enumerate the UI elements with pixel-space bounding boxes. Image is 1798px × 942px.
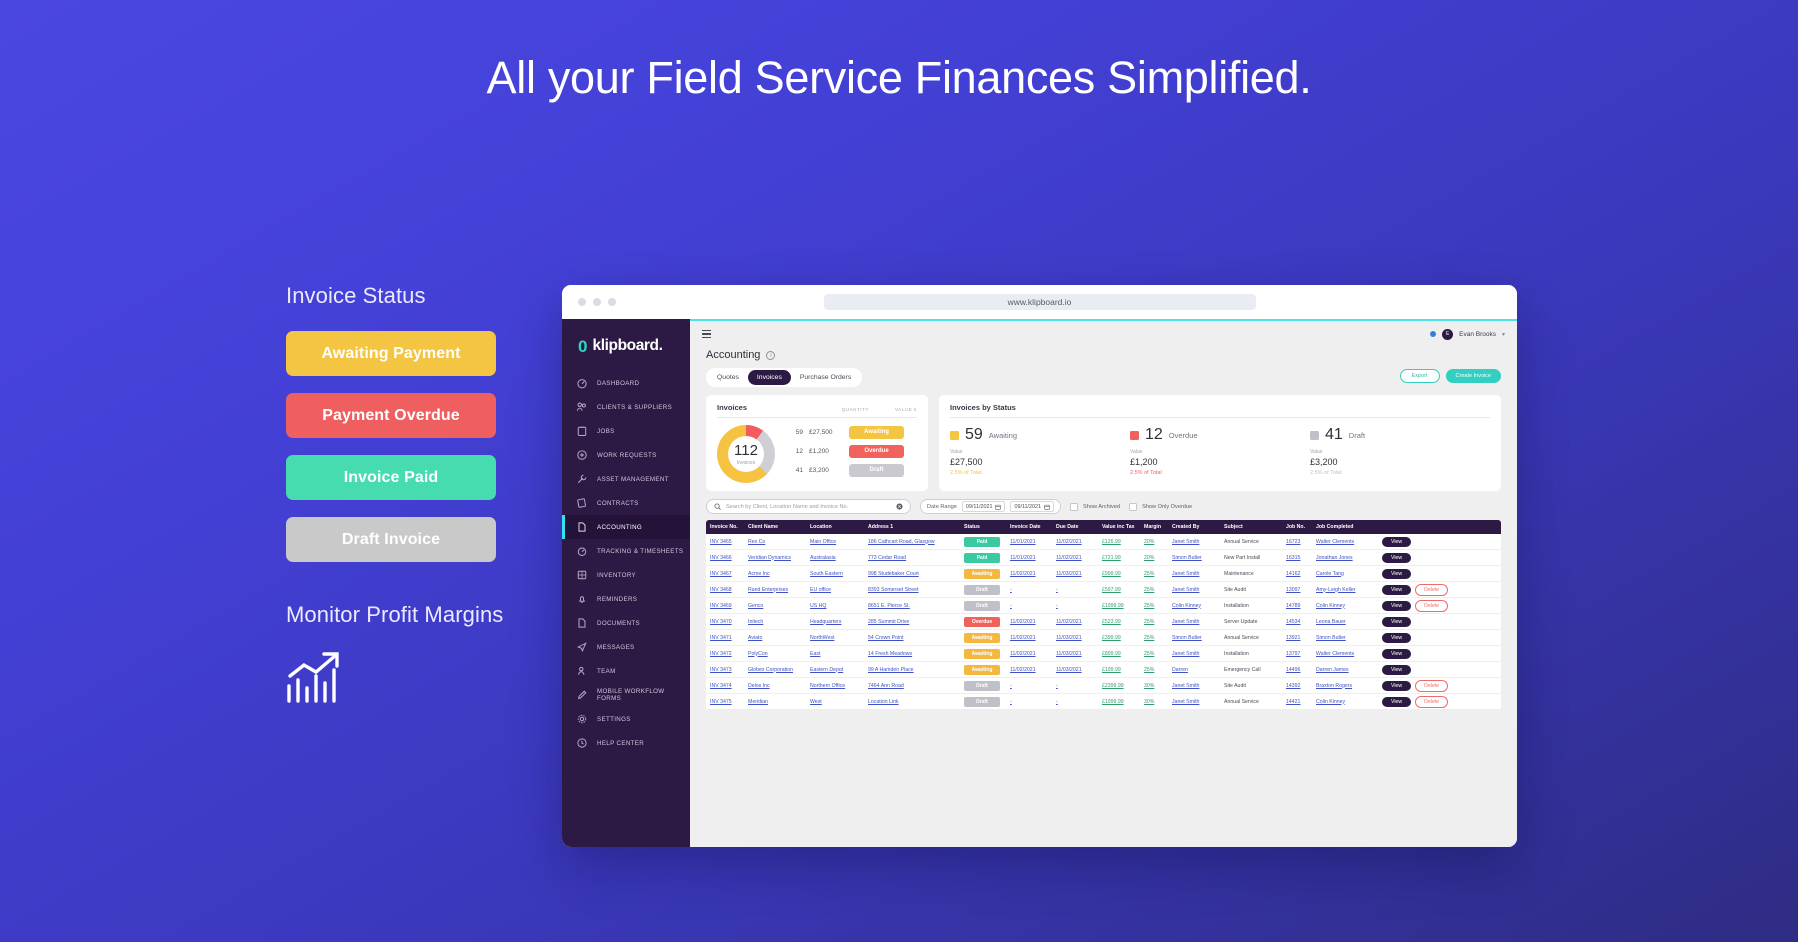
status-badge: Draft (964, 601, 1000, 611)
cell-location[interactable]: Eastern Depot (806, 667, 864, 673)
cell-status: Awaiting (960, 633, 1006, 643)
klipboard-mark-icon: 0 (578, 338, 587, 355)
table-row[interactable]: INV 3472PolyConEast14 Fresh MeadowsAwait… (706, 646, 1501, 662)
sidebar-item-asset-management[interactable]: ASSET MANAGEMENT (562, 467, 690, 491)
cell-location[interactable]: Australasia (806, 555, 864, 561)
cell-address[interactable]: 773 Cedar Road (864, 555, 960, 561)
cell-created-by[interactable]: Colin Kinney (1168, 603, 1220, 609)
sidebar-item-label: MESSAGES (597, 644, 635, 651)
cell-subject: Annual Service (1220, 699, 1282, 705)
gear-icon (576, 713, 588, 725)
invoices-table: Invoice No.Client NameLocationAddress 1S… (706, 520, 1501, 710)
cell-invoice-no[interactable]: INV 3467 (706, 571, 744, 577)
cell-job-no[interactable]: 14789 (1282, 603, 1312, 609)
status-badge: Overdue (964, 617, 1000, 627)
status-name: Overdue (1169, 431, 1198, 440)
summary-cards: Invoices QUANTITY VALUE £ 112 Invoices (690, 387, 1517, 491)
app-logo[interactable]: 0 klipboard. (562, 327, 690, 371)
delete-button[interactable]: Delete (1415, 680, 1448, 692)
cell-invoice-no[interactable]: INV 3471 (706, 635, 744, 641)
view-button[interactable]: View (1382, 601, 1411, 611)
cell-job-completed[interactable]: Colin Kinney (1312, 603, 1378, 609)
cell-client-name[interactable]: Acme Inc (744, 571, 806, 577)
cell-invoice-no[interactable]: INV 3465 (706, 539, 744, 545)
sidebar-item-label: TRACKING & TIMESHEETS (597, 548, 683, 555)
cell-location[interactable]: West (806, 699, 864, 705)
sidebar-item-help-center[interactable]: HELP CENTER (562, 731, 690, 755)
cell-invoice-no[interactable]: INV 3466 (706, 555, 744, 561)
cell-status: Awaiting (960, 665, 1006, 675)
cell-client-name[interactable]: Initech (744, 619, 806, 625)
cell-address[interactable]: 54 Crown Point (864, 635, 960, 641)
stopwatch-icon (576, 545, 588, 557)
cell-created-by[interactable]: Simon Butler (1168, 635, 1220, 641)
cell-job-completed[interactable]: Jonathan Jones (1312, 555, 1378, 561)
column-header[interactable]: Due Date (1052, 524, 1098, 530)
cell-job-completed[interactable]: Walter Clements (1312, 651, 1378, 657)
cell-location[interactable]: South Eastern (806, 571, 864, 577)
sidebar-item-work-requests[interactable]: WORK REQUESTS (562, 443, 690, 467)
view-button[interactable]: View (1382, 665, 1411, 675)
table-row[interactable]: INV 3473Globex CorporationEastern Depot9… (706, 662, 1501, 678)
status-percent: 2.5% of Total (1310, 470, 1490, 476)
cell-created-by[interactable]: Janet Smith (1168, 619, 1220, 625)
show-archived-label: Show Archived (1083, 504, 1120, 510)
cell-job-no[interactable]: 14392 (1282, 683, 1312, 689)
sidebar-item-label: MOBILE WORKFLOW FORMS (597, 688, 690, 702)
cell-due-date: 11/02/2021 (1052, 619, 1098, 625)
cell-created-by[interactable]: Janet Smith (1168, 699, 1220, 705)
search-input[interactable]: Search by Client, Location Name and Invo… (706, 499, 911, 514)
cell-created-by[interactable]: Simon Butler (1168, 555, 1220, 561)
column-header[interactable]: Invoice No. (706, 524, 744, 530)
status-card-title: Invoices by Status (950, 403, 1016, 412)
legend-value: £3,200 (809, 467, 843, 474)
column-header[interactable]: Created By (1168, 524, 1220, 530)
cell-job-completed[interactable]: Darren James (1312, 667, 1378, 673)
cell-margin: 25% (1140, 667, 1168, 673)
maximize-dot-icon[interactable] (608, 298, 616, 306)
cell-invoice-date: 11/02/2021 (1006, 571, 1052, 577)
cell-location[interactable]: Headquarters (806, 619, 864, 625)
cell-invoice-date: 11/01/2021 (1006, 555, 1052, 561)
cell-invoice-no[interactable]: INV 3469 (706, 603, 744, 609)
view-button[interactable]: View (1382, 697, 1411, 707)
cell-location[interactable]: East (806, 651, 864, 657)
sidebar-item-team[interactable]: TEAM (562, 659, 690, 683)
cell-value: £1999.99 (1098, 603, 1140, 609)
date-to-value: 09/11/2021 (1014, 504, 1041, 510)
cell-location[interactable]: Northern Office (806, 683, 864, 689)
cell-value: £126.99 (1098, 539, 1140, 545)
cell-client-name[interactable]: Meridian (744, 699, 806, 705)
cell-due-date: - (1052, 699, 1098, 705)
cell-invoice-date: - (1006, 683, 1052, 689)
trending-up-bar-chart-icon (286, 650, 526, 709)
cell-address[interactable]: 8393 Somerset Street (864, 587, 960, 593)
table-row[interactable]: INV 3471AviatoNorthWest54 Crown PointAwa… (706, 630, 1501, 646)
cell-created-by[interactable]: Janet Smith (1168, 571, 1220, 577)
tab-quotes[interactable]: Quotes (708, 370, 748, 385)
cell-subject: Site Audit (1220, 587, 1282, 593)
view-button[interactable]: View (1382, 537, 1411, 547)
cell-due-date: 11/03/2021 (1052, 667, 1098, 673)
status-name: Awaiting (989, 431, 1017, 440)
cell-client-name[interactable]: Rex Co (744, 539, 806, 545)
sidebar-item-clients-suppliers[interactable]: CLIENTS & SUPPLIERS (562, 395, 690, 419)
date-to-field[interactable]: 09/11/2021 (1010, 501, 1054, 512)
paper-plane-icon (576, 641, 588, 653)
status-color-swatch (1310, 431, 1319, 440)
table-row[interactable]: INV 3474Delos IncNorthern Office7464 Ann… (706, 678, 1501, 694)
donut-legend-row: 12£1,200Overdue (785, 445, 917, 458)
cell-address[interactable]: Location Link (864, 699, 960, 705)
cell-subject: Annual Service (1220, 635, 1282, 641)
cell-margin: 25% (1140, 651, 1168, 657)
app-sidebar: 0 klipboard. DASHBOARDCLIENTS & SUPPLIER… (562, 319, 690, 847)
sidebar-item-label: REMINDERS (597, 596, 637, 603)
status-badge-3[interactable]: Draft Invoice (286, 517, 496, 562)
quantity-column-label: QUANTITY (842, 407, 869, 412)
table-row[interactable]: INV 3468Rand EnterprisesEU office8393 So… (706, 582, 1501, 598)
table-row[interactable]: INV 3470InitechHeadquarters285 Summit Dr… (706, 614, 1501, 630)
column-header[interactable]: Status (960, 524, 1006, 530)
cell-subject: Annual Service (1220, 539, 1282, 545)
cell-due-date: 11/02/2021 (1052, 555, 1098, 561)
sidebar-item-accounting[interactable]: ACCOUNTING (562, 515, 690, 539)
view-button[interactable]: View (1382, 617, 1411, 627)
cell-job-completed[interactable]: Walter Clements (1312, 539, 1378, 545)
status-value: £3,200 (1310, 457, 1490, 467)
cell-invoice-no[interactable]: INV 3474 (706, 683, 744, 689)
cell-job-no[interactable]: 13797 (1282, 651, 1312, 657)
tab-purchase-orders[interactable]: Purchase Orders (791, 370, 860, 385)
cell-due-date: - (1052, 587, 1098, 593)
table-row[interactable]: INV 3465Rex CoMain Office186 Cathcart Ro… (706, 534, 1501, 550)
delete-button[interactable]: Delete (1415, 584, 1448, 596)
cell-address[interactable]: 8651 E. Pierce St. (864, 603, 960, 609)
profit-margins-heading: Monitor Profit Margins (286, 602, 526, 628)
column-header[interactable]: Location (806, 524, 864, 530)
cell-client-name[interactable]: Genco (744, 603, 806, 609)
sidebar-item-documents[interactable]: DOCUMENTS (562, 611, 690, 635)
cell-due-date: - (1052, 603, 1098, 609)
invoices-summary-card: Invoices QUANTITY VALUE £ 112 Invoices (706, 395, 928, 491)
donut-legend-row: 41£3,200Draft (785, 464, 917, 477)
sidebar-item-tracking-timesheets[interactable]: TRACKING & TIMESHEETS (562, 539, 690, 563)
chevron-down-icon[interactable]: ▾ (1502, 331, 1505, 338)
status-count: 41 (1325, 427, 1343, 443)
cell-address[interactable]: 186 Cathcart Road, Glasgow (864, 539, 960, 545)
calendar-icon (1044, 504, 1050, 510)
gauge-icon (576, 377, 588, 389)
cell-margin: 25% (1140, 619, 1168, 625)
cell-job-no[interactable]: 16723 (1282, 539, 1312, 545)
status-badge-2[interactable]: Invoice Paid (286, 455, 496, 500)
cell-subject: Installation (1220, 651, 1282, 657)
sidebar-item-label: CONTRACTS (597, 500, 639, 507)
clipboard-icon (576, 425, 588, 437)
table-row[interactable]: INV 3467Acme IncSouth Eastern998 Studeba… (706, 566, 1501, 582)
sidebar-item-label: HELP CENTER (597, 740, 644, 747)
sidebar-item-label: WORK REQUESTS (597, 452, 657, 459)
online-status-icon (1430, 331, 1436, 337)
cell-address[interactable]: 998 Studebaker Court (864, 571, 960, 577)
cell-actions: ViewDelete (1378, 600, 1501, 612)
status-value: £1,200 (1130, 457, 1310, 467)
invoices-card-header: Invoices QUANTITY VALUE £ (717, 403, 917, 418)
cell-address[interactable]: 285 Summit Drive (864, 619, 960, 625)
cell-client-name[interactable]: Rand Enterprises (744, 587, 806, 593)
contract-icon (576, 497, 588, 509)
url-bar[interactable]: www.klipboard.io (824, 294, 1256, 310)
wrench-icon (576, 473, 588, 485)
cell-invoice-date: - (1006, 587, 1052, 593)
legend-status-pill[interactable]: Draft (849, 464, 904, 477)
minimize-dot-icon[interactable] (593, 298, 601, 306)
table-row[interactable]: INV 3466Veridian DynamicsAustralasia773 … (706, 550, 1501, 566)
cell-job-no[interactable]: 16315 (1282, 555, 1312, 561)
cell-invoice-no[interactable]: INV 3472 (706, 651, 744, 657)
status-count: 59 (965, 427, 983, 443)
column-header[interactable]: Job Completed (1312, 524, 1378, 530)
sidebar-item-jobs[interactable]: JOBS (562, 419, 690, 443)
boxes-icon (576, 569, 588, 581)
file-icon (576, 617, 588, 629)
hamburger-icon[interactable] (702, 330, 711, 338)
cell-client-name[interactable]: Delos Inc (744, 683, 806, 689)
date-range-filter[interactable]: Date Range 09/11/2021 09/11/2021 (920, 499, 1061, 514)
cell-margin: 20% (1140, 555, 1168, 561)
cell-invoice-no[interactable]: INV 3468 (706, 587, 744, 593)
close-dot-icon[interactable] (578, 298, 586, 306)
show-archived-checkbox[interactable]: Show Archived (1070, 503, 1120, 511)
legend-value: £27,500 (809, 429, 843, 436)
sidebar-item-messages[interactable]: MESSAGES (562, 635, 690, 659)
donut-row: 112 Invoices 59£27,500Awaiting12£1,200Ov… (717, 418, 917, 483)
checkbox-box[interactable] (1070, 503, 1078, 511)
view-button[interactable]: View (1382, 585, 1411, 595)
show-only-overdue-checkbox[interactable]: Show Only Overdue (1129, 503, 1192, 511)
column-header[interactable]: Subject (1220, 524, 1282, 530)
cell-client-name[interactable]: PolyCon (744, 651, 806, 657)
status-badge-0[interactable]: Awaiting Payment (286, 331, 496, 376)
cell-invoice-date: 11/02/2021 (1006, 651, 1052, 657)
cell-margin: 25% (1140, 571, 1168, 577)
cell-value: £999.99 (1098, 571, 1140, 577)
cell-job-completed[interactable]: Carole Tang (1312, 571, 1378, 577)
page-title: All your Field Service Finances Simplifi… (0, 52, 1798, 104)
info-icon[interactable]: i (766, 351, 775, 360)
accounting-title: Accounting (706, 349, 760, 361)
legend-quantity: 12 (785, 448, 803, 455)
cell-subject: Emergency Call (1220, 667, 1282, 673)
invoices-donut-chart: 112 Invoices (717, 425, 775, 483)
column-header[interactable]: Client Name (744, 524, 806, 530)
cell-location[interactable]: EU office (806, 587, 864, 593)
view-button[interactable]: View (1382, 569, 1411, 579)
cell-created-by[interactable]: Darren (1168, 667, 1220, 673)
date-from-value: 09/11/2021 (966, 504, 993, 510)
cell-subject: Site Audit (1220, 683, 1282, 689)
user-name: Evan Brooks (1459, 331, 1496, 338)
cell-actions: View (1378, 649, 1501, 659)
table-row[interactable]: INV 3475MeridianWestLocation LinkDraft--… (706, 694, 1501, 710)
status-badge: Paid (964, 537, 1000, 547)
cell-margin: 30% (1140, 699, 1168, 705)
pencil-icon (576, 689, 588, 701)
sidebar-item-label: INVENTORY (597, 572, 636, 579)
cell-value: £721.99 (1098, 555, 1140, 561)
cell-job-no[interactable]: 13097 (1282, 587, 1312, 593)
cell-actions: ViewDelete (1378, 680, 1501, 692)
sidebar-item-dashboard[interactable]: DASHBOARD (562, 371, 690, 395)
cell-value: £399.99 (1098, 635, 1140, 641)
cell-status: Overdue (960, 617, 1006, 627)
tab-invoices[interactable]: Invoices (748, 370, 791, 385)
show-only-overdue-label: Show Only Overdue (1142, 504, 1192, 510)
create-invoice-button[interactable]: Create Invoice (1446, 369, 1501, 383)
document-icon (576, 521, 588, 533)
export-button[interactable]: Export (1400, 369, 1440, 383)
column-header[interactable]: Value inc Tax (1098, 524, 1140, 530)
cell-status: Draft (960, 697, 1006, 707)
cell-status: Draft (960, 681, 1006, 691)
status-percent: 2.5% of Total (950, 470, 1130, 476)
cell-margin: 30% (1140, 683, 1168, 689)
cell-client-name[interactable]: Globex Corporation (744, 667, 806, 673)
cell-value: £899.99 (1098, 651, 1140, 657)
cell-margin: 25% (1140, 603, 1168, 609)
status-item: 59AwaitingValue£27,5002.5% of Total (950, 427, 1130, 476)
date-from-field[interactable]: 09/11/2021 (962, 501, 1006, 512)
header-actions: Export Create Invoice (1400, 369, 1501, 383)
cell-job-no[interactable]: 14534 (1282, 619, 1312, 625)
status-badge: Awaiting (964, 649, 1000, 659)
delete-button[interactable]: Delete (1415, 696, 1448, 708)
cell-status: Awaiting (960, 649, 1006, 659)
cell-actions: View (1378, 553, 1501, 563)
cell-value: £2399.99 (1098, 683, 1140, 689)
date-range-label: Date Range (927, 504, 957, 510)
view-button[interactable]: View (1382, 633, 1411, 643)
cell-client-name[interactable]: Veridian Dynamics (744, 555, 806, 561)
status-item: 12OverdueValue£1,2002.5% of Total (1130, 427, 1310, 476)
column-header[interactable]: Address 1 (864, 524, 960, 530)
search-placeholder: Search by Client, Location Name and Invo… (726, 504, 891, 510)
table-row[interactable]: INV 3469GencoUS HQ8651 E. Pierce St.Draf… (706, 598, 1501, 614)
cell-invoice-no[interactable]: INV 3470 (706, 619, 744, 625)
app-main: E Evan Brooks ▾ Accounting i QuotesInvoi… (690, 319, 1517, 847)
value-column-label: VALUE £ (895, 407, 917, 412)
cell-location[interactable]: Main Office (806, 539, 864, 545)
sidebar-item-contracts[interactable]: CONTRACTS (562, 491, 690, 515)
cell-job-no[interactable]: 14162 (1282, 571, 1312, 577)
sidebar-item-inventory[interactable]: INVENTORY (562, 563, 690, 587)
delete-button[interactable]: Delete (1415, 600, 1448, 612)
status-count: 12 (1145, 427, 1163, 443)
table-body: INV 3465Rex CoMain Office186 Cathcart Ro… (706, 534, 1501, 710)
cell-job-no[interactable]: 14421 (1282, 699, 1312, 705)
cell-created-by[interactable]: Janet Smith (1168, 651, 1220, 657)
status-badge-1[interactable]: Payment Overdue (286, 393, 496, 438)
cell-due-date: 11/03/2021 (1052, 571, 1098, 577)
cell-status: Draft (960, 585, 1006, 595)
cell-margin: 25% (1140, 587, 1168, 593)
cell-location[interactable]: US HQ (806, 603, 864, 609)
cell-created-by[interactable]: Janet Smith (1168, 587, 1220, 593)
cell-value: £199.99 (1098, 667, 1140, 673)
column-header[interactable]: Margin (1140, 524, 1168, 530)
cell-subject: New Part Install (1220, 555, 1282, 561)
sidebar-item-label: DASHBOARD (597, 380, 639, 387)
sidebar-item-label: SETTINGS (597, 716, 631, 723)
cell-actions: View (1378, 633, 1501, 643)
status-badge: Draft (964, 585, 1000, 595)
cell-job-no[interactable]: 14496 (1282, 667, 1312, 673)
user-gear-icon (576, 665, 588, 677)
cell-address[interactable]: 99 A Hamden Place (864, 667, 960, 673)
invoice-status-heading: Invoice Status (286, 283, 526, 309)
status-percent: 2.5% of Total (1130, 470, 1310, 476)
checkbox-box[interactable] (1129, 503, 1137, 511)
clear-icon[interactable] (896, 503, 903, 510)
cell-client-name[interactable]: Aviato (744, 635, 806, 641)
sidebar-item-label: JOBS (597, 428, 615, 435)
cell-invoice-no[interactable]: INV 3473 (706, 667, 744, 673)
view-button[interactable]: View (1382, 649, 1411, 659)
cell-status: Paid (960, 537, 1006, 547)
status-badge: Awaiting (964, 633, 1000, 643)
cell-address[interactable]: 7464 Ann Road (864, 683, 960, 689)
legend-status-pill[interactable]: Awaiting (849, 426, 904, 439)
status-item: 41DraftValue£3,2002.5% of Total (1310, 427, 1490, 476)
cell-invoice-date: 11/02/2021 (1006, 619, 1052, 625)
cell-margin: 20% (1140, 539, 1168, 545)
cell-address[interactable]: 14 Fresh Meadows (864, 651, 960, 657)
cell-invoice-date: - (1006, 603, 1052, 609)
legend-status-pill[interactable]: Overdue (849, 445, 904, 458)
bell-icon (576, 593, 588, 605)
status-name: Draft (1349, 431, 1365, 440)
search-icon (714, 503, 721, 510)
cell-job-no[interactable]: 13921 (1282, 635, 1312, 641)
column-header[interactable]: Job No. (1282, 524, 1312, 530)
cell-subject: Installation (1220, 603, 1282, 609)
cell-job-completed[interactable]: Amy-Leigh Keller (1312, 587, 1378, 593)
user-menu[interactable]: E Evan Brooks ▾ (1430, 329, 1505, 340)
cell-actions: ViewDelete (1378, 584, 1501, 596)
donut-legend: 59£27,500Awaiting12£1,200Overdue41£3,200… (785, 426, 917, 483)
cell-job-completed[interactable]: Simon Butler (1312, 635, 1378, 641)
column-header[interactable]: Invoice Date (1006, 524, 1052, 530)
cell-created-by[interactable]: Janet Smith (1168, 683, 1220, 689)
status-value-label: Value (1130, 449, 1310, 455)
cell-invoice-no[interactable]: INV 3475 (706, 699, 744, 705)
cell-created-by[interactable]: Janet Smith (1168, 539, 1220, 545)
cell-job-completed[interactable]: Leona Bauer (1312, 619, 1378, 625)
legend-value: £1,200 (809, 448, 843, 455)
sidebar-item-reminders[interactable]: REMINDERS (562, 587, 690, 611)
sidebar-item-settings[interactable]: SETTINGS (562, 707, 690, 731)
sidebar-item-mobile-workflow-forms[interactable]: MOBILE WORKFLOW FORMS (562, 683, 690, 707)
status-badge: Awaiting (964, 569, 1000, 579)
view-button[interactable]: View (1382, 681, 1411, 691)
cell-job-completed[interactable]: Braxton Rogers (1312, 683, 1378, 689)
cell-job-completed[interactable]: Colin Kinney (1312, 699, 1378, 705)
view-button[interactable]: View (1382, 553, 1411, 563)
cell-location[interactable]: NorthWest (806, 635, 864, 641)
